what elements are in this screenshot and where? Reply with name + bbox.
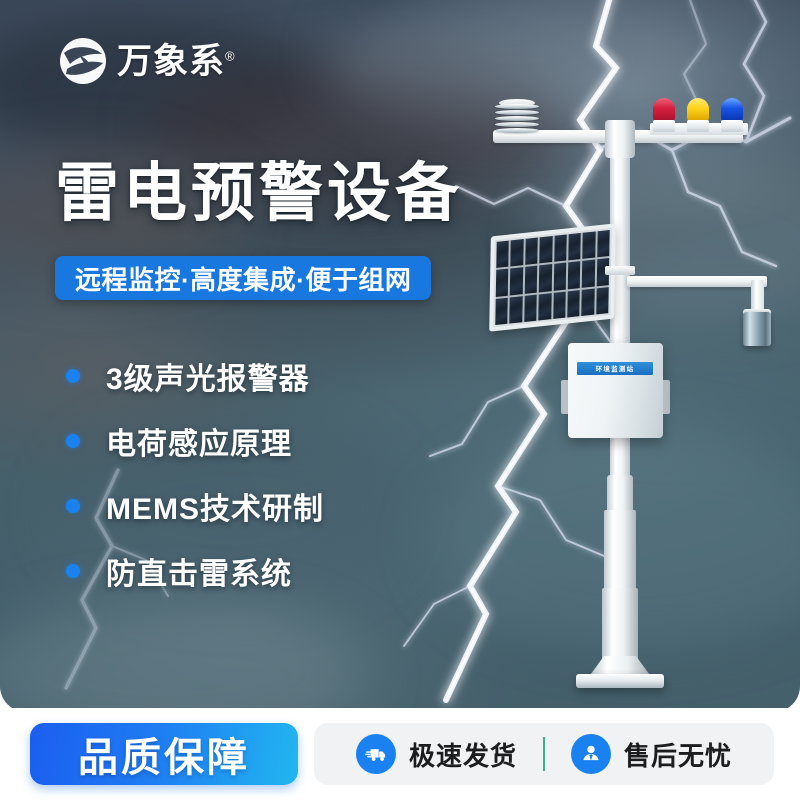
solar-cell — [538, 293, 551, 321]
beacon-lamp — [687, 98, 709, 121]
solar-cell — [510, 296, 523, 324]
solar-cell — [495, 297, 508, 325]
feature-label: 3级声光报警器 — [106, 354, 310, 398]
solar-cell — [583, 231, 596, 259]
solar-cell — [582, 260, 595, 288]
solar-cell — [597, 230, 610, 258]
service-item-aftersales: 售后无忧 — [571, 734, 732, 774]
solar-cell — [554, 235, 567, 263]
brand-swirl-logo-icon — [58, 36, 108, 86]
subtitle-banner: 远程监控·高度集成·便于组网 — [55, 256, 431, 300]
bullet-dot-icon — [66, 564, 80, 578]
delivery-truck-icon — [356, 734, 396, 774]
solar-cell — [525, 238, 538, 266]
solar-cell — [553, 291, 566, 319]
enclosure-label-text: 环境监测站 — [596, 364, 635, 373]
solar-cell — [539, 264, 552, 292]
cylindrical-sensor-head — [743, 312, 771, 346]
beacon-lamp — [653, 98, 675, 121]
service-item-shipping: 极速发货 — [356, 734, 517, 774]
list-item: 3级声光报警器 — [66, 345, 406, 407]
solar-cell — [596, 287, 609, 315]
feature-list: 3级声光报警器 电荷感应原理 MEMS技术研制 防直击雷系统 — [66, 345, 406, 605]
brand-name-text: 万象系 — [117, 42, 225, 81]
shield-plate — [495, 128, 539, 133]
solar-cell — [496, 241, 509, 269]
solar-panel-arm — [605, 266, 635, 275]
red-alarm-beacon — [653, 98, 675, 132]
brand-name: 万象系® — [117, 44, 236, 79]
divider — [543, 737, 545, 771]
mast-collar — [605, 120, 635, 158]
solar-cell — [525, 266, 538, 294]
solar-cell-grid — [495, 230, 609, 325]
solar-cell — [582, 288, 595, 316]
shield-plate — [495, 104, 539, 109]
service-label: 售后无忧 — [624, 736, 732, 773]
solar-cell — [539, 236, 552, 264]
list-item: MEMS技术研制 — [66, 475, 406, 537]
blue-alarm-beacon — [721, 98, 743, 132]
bullet-dot-icon — [66, 369, 80, 383]
solar-panel — [489, 223, 616, 331]
solar-cell — [567, 290, 580, 318]
bullet-dot-icon — [66, 434, 80, 448]
controller-enclosure — [568, 343, 663, 438]
footer-bar: 品质保障 极速发货 — [0, 708, 800, 800]
mast-bottom-section — [602, 588, 638, 663]
solar-cell — [568, 233, 581, 261]
beacon-foot — [687, 120, 709, 132]
mast-lower-section — [604, 510, 636, 595]
page-title: 雷电预警设备 — [55, 160, 463, 227]
solar-cell — [524, 294, 537, 322]
service-pill: 极速发货 售后无忧 — [314, 723, 774, 785]
product-poster: 万象系® 雷电预警设备 远程监控·高度集成·便于组网 3级声光报警器 电荷感应原… — [0, 0, 800, 800]
product-image: 环境监测站 — [455, 90, 785, 700]
solar-cell — [553, 263, 566, 291]
shield-plate — [495, 116, 539, 121]
service-label: 极速发货 — [409, 736, 517, 773]
solar-cell — [510, 267, 523, 295]
feature-label: MEMS技术研制 — [106, 484, 324, 528]
beacon-foot — [721, 120, 743, 132]
beacon-foot — [653, 120, 675, 132]
shield-plate — [495, 122, 539, 127]
feature-label: 防直击雷系统 — [106, 549, 292, 593]
solar-cell — [568, 261, 581, 289]
brand-logo: 万象系® — [58, 36, 236, 86]
solar-cell — [496, 269, 509, 297]
beacon-lamp — [721, 98, 743, 121]
solar-cell — [511, 239, 524, 267]
yellow-alarm-beacon — [687, 98, 709, 132]
feature-label: 电荷感应原理 — [106, 419, 292, 463]
mounting-base-plate — [576, 674, 664, 688]
bullet-dot-icon — [66, 499, 80, 513]
mast-mid-section — [607, 475, 633, 515]
support-agent-icon — [571, 734, 611, 774]
radiation-shield-sensor — [495, 102, 539, 134]
subtitle-banner-text: 远程监控·高度集成·便于组网 — [75, 260, 411, 297]
shield-plate — [495, 110, 539, 115]
list-item: 电荷感应原理 — [66, 410, 406, 472]
quality-badge: 品质保障 — [30, 723, 298, 785]
enclosure-label: 环境监测站 — [577, 362, 653, 375]
quality-badge-label: 品质保障 — [78, 725, 250, 783]
list-item: 防直击雷系统 — [66, 540, 406, 602]
registered-trademark-icon: ® — [225, 48, 236, 63]
sensor-arm — [627, 276, 767, 287]
